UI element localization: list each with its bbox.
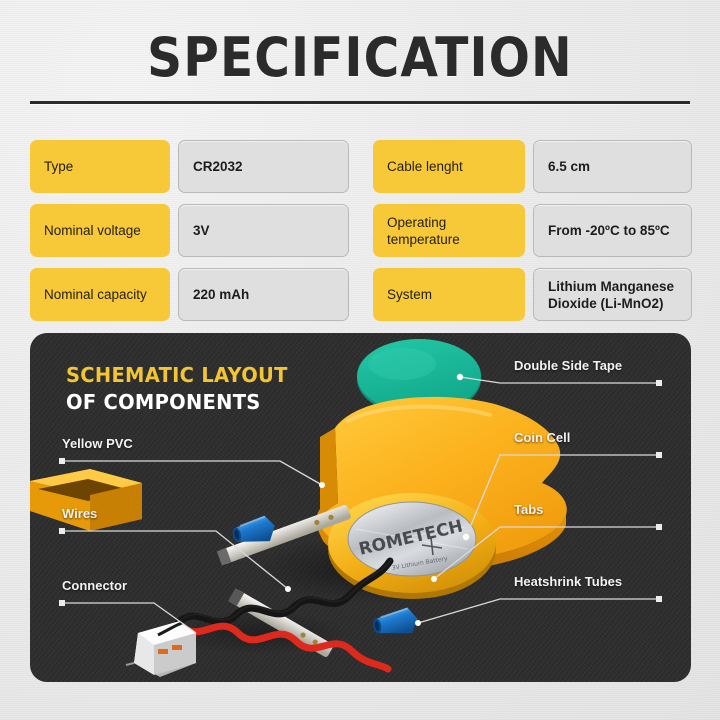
callout-wires: Wires (62, 506, 97, 521)
spec-label-nominal-voltage: Nominal voltage (30, 204, 170, 257)
schematic-heading-line1: SCHEMATIC LAYOUT (66, 362, 288, 389)
spec-row-nominal-voltage: Nominal voltage 3V (30, 204, 349, 257)
spec-row-system: System Lithium Manganese Dioxide (Li-MnO… (373, 268, 692, 321)
spec-value-nominal-voltage: 3V (178, 204, 349, 257)
spec-label-cable-length: Cable lenght (373, 140, 525, 193)
spec-value-system: Lithium Manganese Dioxide (Li-MnO2) (533, 268, 692, 321)
callout-yellow-pvc: Yellow PVC (62, 436, 133, 451)
spec-value-operating-temperature: From -20ºC to 85ºC (533, 204, 692, 257)
schematic-heading-line2: OF COMPONENTS (66, 389, 288, 416)
spec-row-nominal-capacity: Nominal capacity 220 mAh (30, 268, 349, 321)
specification-infographic: SPECIFICATION Type CR2032 Cable lenght 6… (0, 0, 720, 720)
page-title: SPECIFICATION (36, 26, 684, 90)
heatshrink-tube-lower-part (371, 606, 420, 639)
spec-row-type: Type CR2032 (30, 140, 349, 193)
specification-table: Type CR2032 Cable lenght 6.5 cm Nominal … (30, 140, 692, 321)
coin-cell-part: ROMETECH 3V Lithium Battery (328, 493, 496, 599)
spec-label-type: Type (30, 140, 170, 193)
connector-part (126, 621, 196, 677)
spec-label-operating-temperature: Operating temperature (373, 204, 525, 257)
spec-value-type: CR2032 (178, 140, 349, 193)
callout-coin-cell: Coin Cell (514, 430, 570, 445)
callout-heatshrink-tubes: Heatshrink Tubes (514, 574, 622, 589)
spec-label-system: System (373, 268, 525, 321)
spec-row-cable-length: Cable lenght 6.5 cm (373, 140, 692, 193)
title-divider (30, 101, 690, 104)
schematic-panel: SCHEMATIC LAYOUT OF COMPONENTS (30, 333, 691, 682)
callout-tabs: Tabs (514, 502, 543, 517)
spec-value-nominal-capacity: 220 mAh (178, 268, 349, 321)
spec-label-nominal-capacity: Nominal capacity (30, 268, 170, 321)
callout-double-side-tape: Double Side Tape (514, 358, 622, 373)
spec-row-operating-temperature: Operating temperature From -20ºC to 85ºC (373, 204, 692, 257)
schematic-heading: SCHEMATIC LAYOUT OF COMPONENTS (66, 362, 288, 416)
callout-connector: Connector (62, 578, 127, 593)
spec-value-cable-length: 6.5 cm (533, 140, 692, 193)
